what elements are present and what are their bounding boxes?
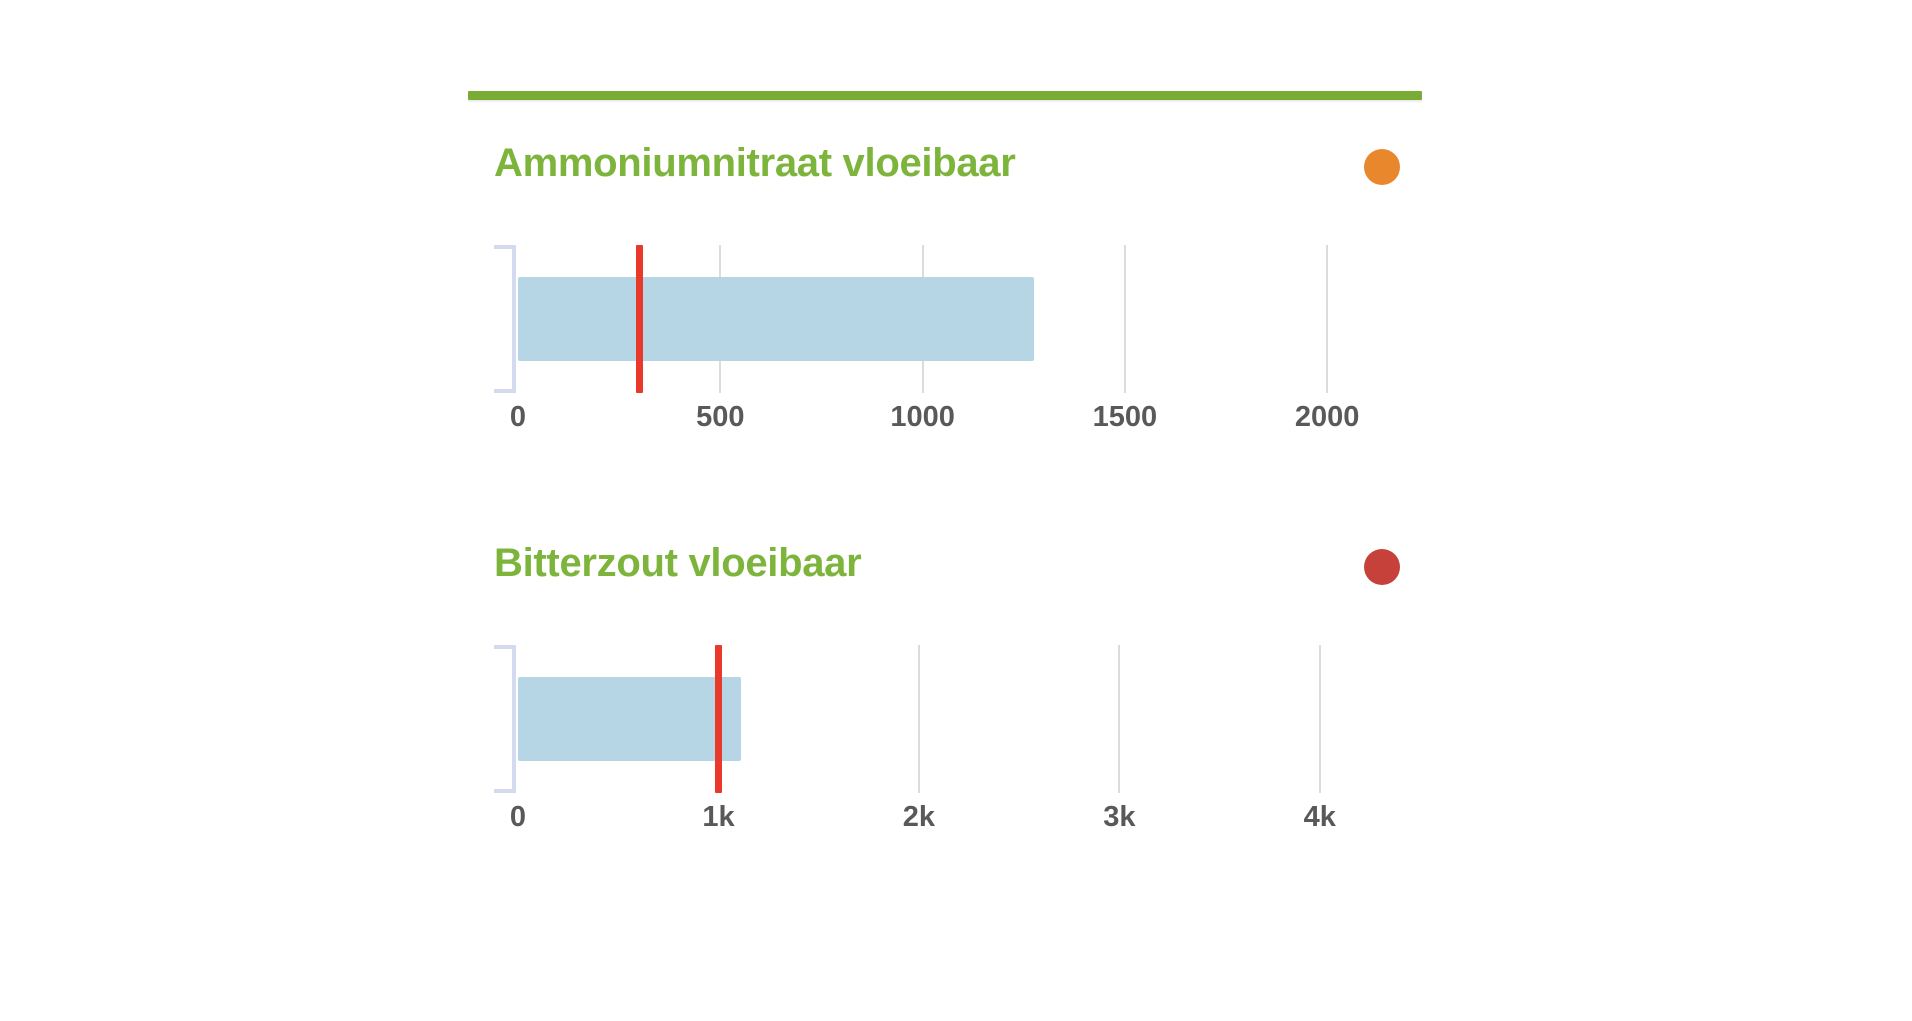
x-axis-tick-label: 1000 <box>890 401 955 434</box>
y-axis-bracket <box>494 645 516 793</box>
x-axis-tick-label: 0 <box>510 401 526 434</box>
gridline <box>1118 645 1120 793</box>
chart-title: Bitterzout vloeibaar <box>494 540 861 586</box>
header-accent-rule-shadow <box>468 100 1422 103</box>
x-axis-tick-label: 1k <box>702 801 734 834</box>
status-dot-red[interactable] <box>1364 549 1400 585</box>
y-axis-bracket-bottom-stub <box>494 389 516 393</box>
x-axis-tick-label: 2k <box>903 801 935 834</box>
target-marker <box>636 245 643 393</box>
header-accent-rule <box>468 91 1422 100</box>
x-axis-tick-label: 2000 <box>1295 401 1360 434</box>
bullet-chart-plot: 01k2k3k4k <box>494 645 1400 805</box>
gridline <box>918 645 920 793</box>
x-axis-tick-label: 1500 <box>1093 401 1158 434</box>
gridline <box>1124 245 1126 393</box>
y-axis-bracket <box>494 245 516 393</box>
measure-bar[interactable] <box>518 277 1034 361</box>
dashboard-page: Ammoniumnitraat vloeibaar 05001000150020… <box>0 0 1912 1021</box>
x-axis-tick-label: 0 <box>510 801 526 834</box>
chart-title: Ammoniumnitraat vloeibaar <box>494 140 1016 186</box>
bullet-chart-plot: 0500100015002000 <box>494 245 1400 405</box>
y-axis-bracket-spine <box>512 645 516 793</box>
gridline <box>1326 245 1328 393</box>
y-axis-bracket-bottom-stub <box>494 789 516 793</box>
x-axis-tick-label: 500 <box>696 401 744 434</box>
x-axis-tick-label: 4k <box>1304 801 1336 834</box>
gridline <box>1319 645 1321 793</box>
y-axis-bracket-spine <box>512 245 516 393</box>
x-axis-tick-label: 3k <box>1103 801 1135 834</box>
status-dot-orange[interactable] <box>1364 149 1400 185</box>
measure-bar[interactable] <box>518 677 741 761</box>
target-marker <box>715 645 722 793</box>
